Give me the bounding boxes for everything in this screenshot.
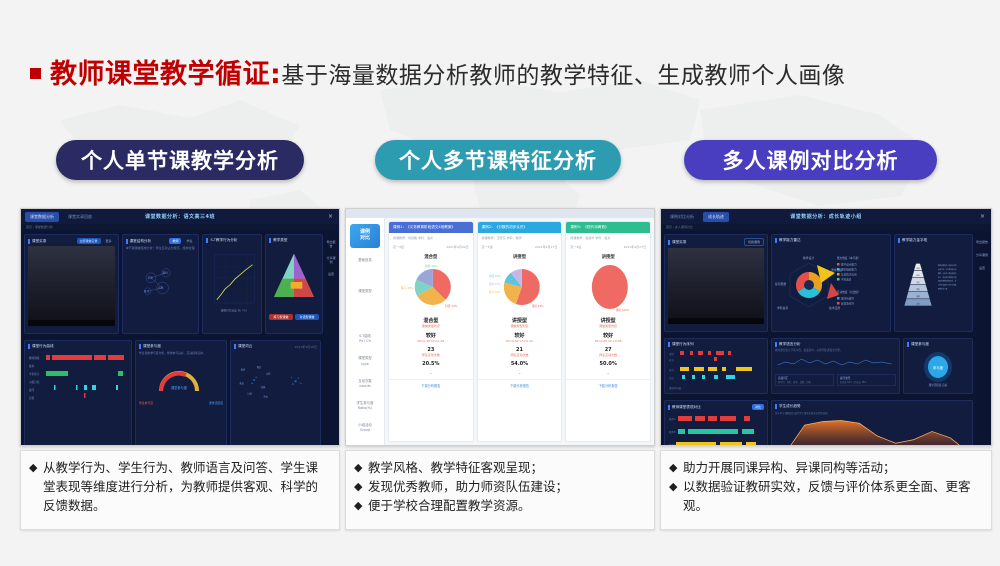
chip-more[interactable]: 更多 (103, 238, 115, 244)
breadcrumb: 首页 / 课堂数据分析 (21, 224, 339, 231)
stat-value: 50.0% (566, 361, 650, 367)
card-title: 教学语言分析 (779, 342, 801, 347)
row-label-st-sub: Rt / Ch (346, 339, 384, 344)
svg-text:表达: 表达 (239, 381, 244, 385)
svg-text:技术应用: 技术应用 (829, 306, 840, 310)
chip-all-records[interactable]: 全部课堂实录 (77, 238, 101, 244)
footer-text: 发现优秀教师，助力师资队伍建设； (368, 478, 644, 497)
footer-text: 教学风格、教学特征客观呈现； (368, 459, 644, 478)
stat-value: 20.5% (389, 361, 473, 367)
svg-text:升学生深度学习水平与课堂: 升学生深度学习水平与课堂 (938, 284, 957, 287)
card-title: 课堂实录 (32, 239, 46, 244)
teacher-comparison-bars: 教师A教师B教师C (668, 412, 764, 446)
svg-text:思考: 思考 (241, 368, 246, 372)
chip-student[interactable]: 学生 (183, 238, 195, 244)
teacher-meta: 授课教师：刘慧敏 学科：语文 (393, 236, 433, 240)
card-title: 学生成长趋势 (779, 404, 801, 409)
row-label-interactions-sub: counts (346, 384, 384, 389)
svg-text:其他 12%: 其他 12% (489, 282, 501, 286)
diamond-bullet-icon: ◆ (354, 478, 368, 497)
stat-value: 混合型 (389, 317, 473, 324)
card-title: 教师课堂表现对比 (672, 405, 701, 410)
svg-text:评价: 评价 (263, 394, 268, 398)
svg-text:理解: 理解 (916, 295, 920, 298)
light-titlebar (346, 209, 654, 218)
sidebar-item-share[interactable]: 分享课例 (976, 253, 988, 257)
screenshot-single-lesson-dashboard[interactable]: 课堂数据分析 课堂实录回放 课堂数据分析：语文高三4班 × 首页 / 课堂数据分… (20, 208, 340, 446)
stat-value: 讲授型 (478, 317, 562, 324)
subcard-body: 同学们、我们、思考、请看、回答 (778, 380, 831, 384)
svg-text:讲授: 讲授 (669, 352, 674, 356)
lesson-date: 2021年4月17日 (535, 245, 557, 249)
axis-label: 教师行为占比 Rt（%） (221, 308, 249, 312)
logo-text: 课例对比 (360, 230, 370, 242)
pie-chart: 讲授 46% 练习 28% 对话 14% (389, 261, 473, 315)
dashboard-titlebar: 课堂数据分析 课堂实录回放 课堂数据分析：语文高三4班 × (21, 209, 339, 224)
stat-sub: 课堂类型判定 (566, 324, 650, 328)
behavior-sequence-chart: 讲授板书练习讨论 课堂时间轴 (668, 349, 764, 391)
row-label-classtype-sub: type (346, 362, 384, 367)
class-meta: 高一4班 (482, 245, 493, 249)
svg-text:讲授 62%: 讲授 62% (532, 304, 544, 308)
svg-text:探究: 探究 (257, 365, 262, 369)
headline-emphasis: 教师课堂教学循证: (50, 52, 281, 91)
svg-text:创造: 创造 (916, 267, 920, 270)
st-curve-chart: 教师行为占比 Rt（%） (206, 245, 258, 321)
svg-text:板书: 板书 (669, 358, 674, 362)
lesson-date: 2021年4月09日 (446, 245, 468, 249)
close-icon[interactable]: × (980, 213, 985, 220)
stat-sub: Rt=0.38 Ch=0.26 (389, 339, 473, 343)
sidebar-item-settings[interactable]: 设置 (979, 266, 985, 270)
card-ability-pyramid: 教学能力金字塔 创造评价分析 应用理解记忆 教师课堂提问以理解与应用 层级为主，… (894, 234, 973, 332)
app-logo: 课例对比 (350, 224, 380, 248)
svg-text:学生练习: 学生练习 (29, 372, 40, 376)
stat-sub: Rt=0.85 Ch=0.08 (566, 339, 650, 343)
column-header: 课例3：《现代诗两首》 (570, 225, 608, 230)
screenshot-multi-teacher-dashboard[interactable]: 课例对比分析 成长轨迹 课堂数据分析：成长轨迹小组 × 首页 / 多人课例对比 … (660, 208, 992, 446)
card-teacher-comparison: 教师课堂表现对比 对比 教师A教师B教师C (664, 400, 768, 446)
dashboard-sidebar[interactable]: 导出报告 分享课例 设置 (976, 234, 988, 332)
class-meta: 高一4班 (393, 245, 404, 249)
gauge-label: 课堂参与度 (171, 385, 188, 390)
row-label-group-sub: Group (346, 428, 384, 433)
headline-rest: 基于海量数据分析教师的教学特征、生成教师个人画像 (281, 56, 845, 90)
svg-text:应用: 应用 (916, 288, 920, 291)
pill-label: 个人多节课特征分析 (399, 145, 597, 175)
svg-text:提问: 提问 (29, 388, 35, 392)
trend-note: 基于多节课数据生成的学生课堂表现成长趋势曲线 (775, 411, 969, 415)
card-title: 课堂词云 (238, 344, 252, 349)
card-language-analysis: 教学语言分析 教师课堂语言节奏平稳，语速适中，关键词复述频次合理。 高频词汇 同… (771, 338, 900, 394)
svg-text:对话 12%: 对话 12% (489, 274, 501, 278)
label-class-activity: 课堂活跃度 (209, 401, 223, 405)
svg-text:提问: 提问 (162, 270, 167, 274)
stat-sub: 师生互动次数 (389, 353, 473, 357)
stat-sub: 师生互动次数 (566, 353, 650, 357)
card-title: 教学能力雷达 (779, 238, 801, 243)
card-title: 课堂实录 (672, 240, 686, 245)
comparison-columns: 课例1：《义务教育阶段语文4班教案》 授课教师：刘慧敏 学科：语文 高一4班 2… (385, 218, 654, 445)
svg-text:讲授 100%: 讲授 100% (616, 308, 630, 312)
column-header: 课例1：《义务教育阶段语文4班教案》 (393, 225, 455, 230)
card-classroom-video: 课堂实录 切换课例 (664, 234, 768, 332)
word-cloud-date: 2021年3月18日 (295, 345, 317, 349)
stat-sub: 课堂类型判定 (478, 324, 562, 328)
diamond-bullet-icon: ◆ (354, 459, 368, 478)
participation-gauge: 参与度 课堂活跃度 良好 (907, 349, 969, 389)
btn-practice-class[interactable]: 练习型课堂 (269, 314, 293, 320)
svg-text:练习: 练习 (669, 368, 674, 372)
pill-label: 多人课例对比分析 (723, 145, 899, 175)
card-participation: 课堂参与度 学生课堂参与度分析，整体参与良好，互动频率适中。 课堂参与度 学生参… (135, 340, 227, 446)
stat-value: 较好 (478, 332, 562, 339)
lesson-date: 2021年4月27日 (624, 245, 646, 249)
ability-radar-chart: 教学设计课堂组织 技术应用学科素养 提问质量 能力维度（本节课） 教学设计能力 … (775, 245, 887, 323)
pie-chart: 对话 12% 其他 12% 练习 14% 讲授 62% (478, 261, 562, 315)
svg-text:教师A: 教师A (669, 417, 676, 421)
card-classroom-video: 课堂实录 全部课堂实录 更多 (24, 234, 119, 334)
card-title: S-T教学行为分析 (210, 238, 237, 243)
subcard-body: 封闭式 62% / 开放式 38% (840, 380, 893, 384)
diamond-bullet-icon: ◆ (669, 478, 683, 516)
footer-single: ◆ 从教学行为、学生行为、教师语言及问答、学生课堂表现等维度进行分析，为教师提供… (20, 450, 340, 530)
teacher-meta: 授课教师：赵丽华 学科：语文 (570, 236, 610, 240)
svg-text:应答: 应答 (29, 396, 35, 400)
column-header: 课例2：《分数的初步认识》 (482, 225, 527, 230)
svg-text:练习: 练习 (144, 288, 149, 292)
pie-title: 讲授型 (478, 254, 562, 260)
dashboard-title: 课堂数据分析：成长轨迹小组 (661, 213, 991, 220)
class-meta: 高一4班 (570, 245, 581, 249)
card-st-analysis: S-T教学行为分析 教师行为占比 Rt（%） (202, 234, 262, 334)
pill-label: 个人单节课教学分析 (81, 145, 279, 175)
card-title: 教学类型 (273, 238, 287, 243)
svg-text:讲授 46%: 讲授 46% (425, 264, 438, 268)
ability-pyramid-chart: 创造评价分析 应用理解记忆 教师课堂提问以理解与应用 层级为主，记忆类问题占比 … (898, 245, 969, 321)
stat-value: - (389, 371, 473, 377)
stat-value: 讲授型 (566, 317, 650, 324)
svg-text:小组讨论: 小组讨论 (29, 380, 40, 384)
svg-text:学科素养: 学科素养 (777, 306, 788, 310)
sidebar-item-share[interactable]: 分享课例 (326, 256, 336, 264)
svg-text:互动维度（对比组）: 互动维度（对比组） (837, 290, 860, 294)
svg-text:归纳: 归纳 (261, 385, 266, 389)
card-word-cloud: 课堂词云 2021年3月18日 思考探究合作 表达归纳讨论 评价 (230, 340, 321, 446)
diamond-bullet-icon: ◆ (354, 497, 368, 516)
row-label-type: 课堂类型 (346, 289, 384, 294)
stat-value: - (478, 371, 562, 377)
lesson-column[interactable]: 课例1：《义务教育阶段语文4班教案》 授课教师：刘慧敏 学科：语文 高一4班 2… (388, 221, 474, 442)
svg-text:教师课堂提问以理解与应用: 教师课堂提问以理解与应用 (938, 264, 957, 267)
svg-text:学科素养: 学科素养 (841, 278, 852, 282)
lesson-column[interactable]: 课例2：《分数的初步认识》 授课教师：王晓东 学科：数学 高一4班 2021年4… (477, 221, 563, 442)
svg-text:能力维度（本节课）: 能力维度（本节课） (837, 256, 860, 260)
stat-value: - (566, 371, 650, 377)
pie-title: 讲授型 (566, 254, 650, 260)
svg-text:较少。建议在后续教学中增: 较少。建议在后续教学中增 (938, 276, 957, 279)
download-report-link[interactable]: 下载分析报告 (566, 379, 650, 391)
svg-text:合作: 合作 (266, 372, 271, 376)
dashboard-sidebar[interactable]: 导出报告 分享课例 设置 (326, 234, 336, 334)
svg-text:教师B: 教师B (669, 430, 676, 434)
dashboard-titlebar: 课例对比分析 成长轨迹 课堂数据分析：成长轨迹小组 × (661, 209, 991, 224)
svg-text:教师C: 教师C (669, 443, 676, 446)
stat-sub: Rt=0.62 Ch=0.19 (478, 339, 562, 343)
pie-title: 混合型 (389, 254, 473, 260)
footer-compare: ◆ 助力开展同课异构、异课同构等活动； ◆ 以数据验证教研实效，反馈与评价体系更… (660, 450, 992, 530)
card-title: 课堂结构分析 (130, 239, 152, 244)
screenshot-multi-lesson-dashboard[interactable]: 课例对比 基础信息 课堂类型 S-T曲线 Rt / Ch 课堂类型 type 互… (345, 208, 655, 446)
stat-sub: 师生互动次数 (478, 353, 562, 357)
card-structure-analysis: 课堂结构分析 教师 学生 本节课课堂结构分析：师生互动占比较高，结构合理 讲授提… (122, 234, 200, 334)
behavior-sequence-chart: 教师讲授板书 学生练习小组讨论 提问应答 (28, 351, 128, 403)
svg-text:提问质量: 提问质量 (775, 282, 786, 286)
stat-value: 较好 (566, 332, 650, 339)
card-title: 教学能力金字塔 (902, 238, 927, 243)
participation-gauge: 课堂参与度 (139, 357, 223, 397)
svg-text:教学设计: 教学设计 (803, 256, 814, 260)
badge-compare[interactable]: 对比 (752, 404, 764, 410)
video-thumbnail[interactable] (28, 246, 115, 326)
video-thumbnail[interactable] (668, 248, 764, 324)
teacher-meta: 授课教师：王晓东 学科：数学 (482, 236, 522, 240)
card-title: 课堂行为序列 (672, 342, 694, 347)
bullet-square-icon (30, 68, 41, 79)
card-title: 课堂参与度 (143, 344, 161, 349)
card-participation: 课堂参与度 参与度 课堂活跃度 良好 (903, 338, 973, 394)
word-cloud-visual: 思考探究合作 表达归纳讨论 评价 (234, 351, 317, 413)
stat-value: 54.0% (478, 361, 562, 367)
card-growth-trend: 学生成长趋势 基于多节课数据生成的学生课堂表现成长趋势曲线 第1课第2课第3课 … (771, 400, 973, 446)
chip-teacher[interactable]: 教师 (169, 238, 181, 244)
card-ability-radar: 教学能力雷达 教学设计课堂组织 技术应用学科素养 提问质量 (771, 234, 891, 332)
stat-sub: 课堂类型判定 (389, 324, 473, 328)
card-behavior-sequence: 课堂行为曲线 教师讲授板书 学生练习小组讨论 提问应答 (24, 340, 132, 446)
svg-text:练习 14%: 练习 14% (489, 290, 501, 294)
card-teaching-type: 教学类型 练习型课堂 对话型课堂 (265, 234, 323, 334)
svg-text:偏高，分析评价类问题相对: 偏高，分析评价类问题相对 (938, 272, 957, 275)
diamond-bullet-icon: ◆ (669, 459, 683, 478)
svg-text:分析: 分析 (916, 281, 920, 284)
svg-text:课堂时间轴: 课堂时间轴 (669, 386, 682, 390)
footer-text: 从教学行为、学生行为、教师语言及问答、学生课堂表现等维度进行分析，为教师提供客观… (43, 459, 329, 515)
stat-value: 较好 (389, 332, 473, 339)
svg-text:加高阶思维问题的设计，提: 加高阶思维问题的设计，提 (938, 280, 957, 283)
svg-text:练习 28%: 练习 28% (401, 286, 414, 290)
svg-text:应答: 应答 (158, 285, 163, 289)
svg-text:评价: 评价 (916, 274, 920, 277)
pill-single-lesson[interactable]: 个人单节课教学分析 (56, 140, 304, 180)
svg-text:提问有效性: 提问有效性 (841, 297, 854, 301)
row-label-participation-sub: Ratio(%) (346, 406, 384, 411)
label-student-participation: 学生参与度 (139, 401, 153, 405)
comparison-sidebar: 课例对比 基础信息 课堂类型 S-T曲线 Rt / Ch 课堂类型 type 互… (346, 218, 385, 445)
btn-dialog-class[interactable]: 对话型课堂 (295, 314, 319, 320)
download-report-link[interactable]: 下载分析报告 (389, 379, 473, 391)
sidebar-item-settings[interactable]: 设置 (328, 272, 334, 276)
gauge-value: 参与度 (933, 365, 944, 370)
chip-switch-lesson[interactable]: 切换课例 (744, 238, 764, 246)
lesson-column[interactable]: 课例3：《现代诗两首》 授课教师：赵丽华 学科：语文 高一4班 2021年4月2… (565, 221, 651, 442)
svg-text:板书: 板书 (29, 364, 35, 368)
svg-text:层级为主，记忆类问题占比: 层级为主，记忆类问题占比 (938, 268, 957, 271)
footer-text: 便于学校合理配置教学资源。 (368, 497, 644, 516)
svg-text:讲授: 讲授 (147, 275, 152, 279)
sidebar-item-export[interactable]: 导出报告 (976, 240, 988, 244)
breadcrumb: 首页 / 多人课例对比 (661, 224, 991, 231)
dashboard-title: 课堂数据分析：语文高三4班 (21, 213, 339, 220)
footer-text: 以数据验证教研实效，反馈与评价体系更全面、更客观。 (683, 478, 981, 516)
svg-text:信息技术应用: 信息技术应用 (841, 273, 857, 277)
structure-bubble-chart: 讲授提问 应答练习 (126, 251, 196, 313)
svg-text:教学设计能力: 教学设计能力 (841, 263, 857, 267)
svg-text:对话 14%: 对话 14% (445, 304, 458, 308)
diamond-bullet-icon: ◆ (29, 459, 43, 515)
svg-text:思维参与广度。: 思维参与广度。 (938, 287, 949, 290)
svg-text:教师讲授: 教师讲授 (29, 356, 40, 360)
close-icon[interactable]: × (328, 213, 333, 220)
pie-chart: 讲授 100% (566, 261, 650, 315)
card-title: 课堂行为曲线 (32, 344, 54, 349)
svg-text:讨论: 讨论 (247, 392, 252, 396)
card-title: 课堂参与度 (911, 342, 929, 347)
download-report-link[interactable]: 下载分析报告 (478, 379, 562, 391)
pill-multi-teacher[interactable]: 多人课例对比分析 (684, 140, 937, 180)
svg-text:记忆: 记忆 (916, 302, 920, 305)
card-behavior-sequence: 课堂行为序列 讲授板 (664, 338, 768, 394)
sidebar-item-export[interactable]: 导出报告 (326, 240, 336, 248)
svg-text:讨论: 讨论 (669, 376, 674, 380)
svg-text:课堂组织能力: 课堂组织能力 (841, 268, 857, 272)
language-waveform (775, 353, 896, 369)
pill-multi-lesson[interactable]: 个人多节课特征分析 (375, 140, 621, 180)
page-title: 教师课堂教学循证: 基于海量数据分析教师的教学特征、生成教师个人画像 (30, 52, 845, 91)
participation-note: 学生课堂参与度分析，整体参与良好，互动频率适中。 (139, 351, 223, 355)
gauge-sub: 课堂活跃度 良好 (929, 383, 948, 387)
footer-multi: ◆ 教学风格、教学特征客观呈现； ◆ 发现优秀教师，助力师资队伍建设； ◆ 便于… (345, 450, 655, 530)
svg-text:反馈及时性: 反馈及时性 (841, 302, 854, 306)
teaching-type-pyramid (269, 245, 319, 309)
footer-text: 助力开展同课异构、异课同构等活动； (683, 459, 981, 478)
growth-trend-chart: 第1课第2课第3课 第4课第5课第6课 第7课第8课第9课 第10课 (775, 416, 969, 446)
row-label-basic: 基础信息 (346, 258, 384, 263)
